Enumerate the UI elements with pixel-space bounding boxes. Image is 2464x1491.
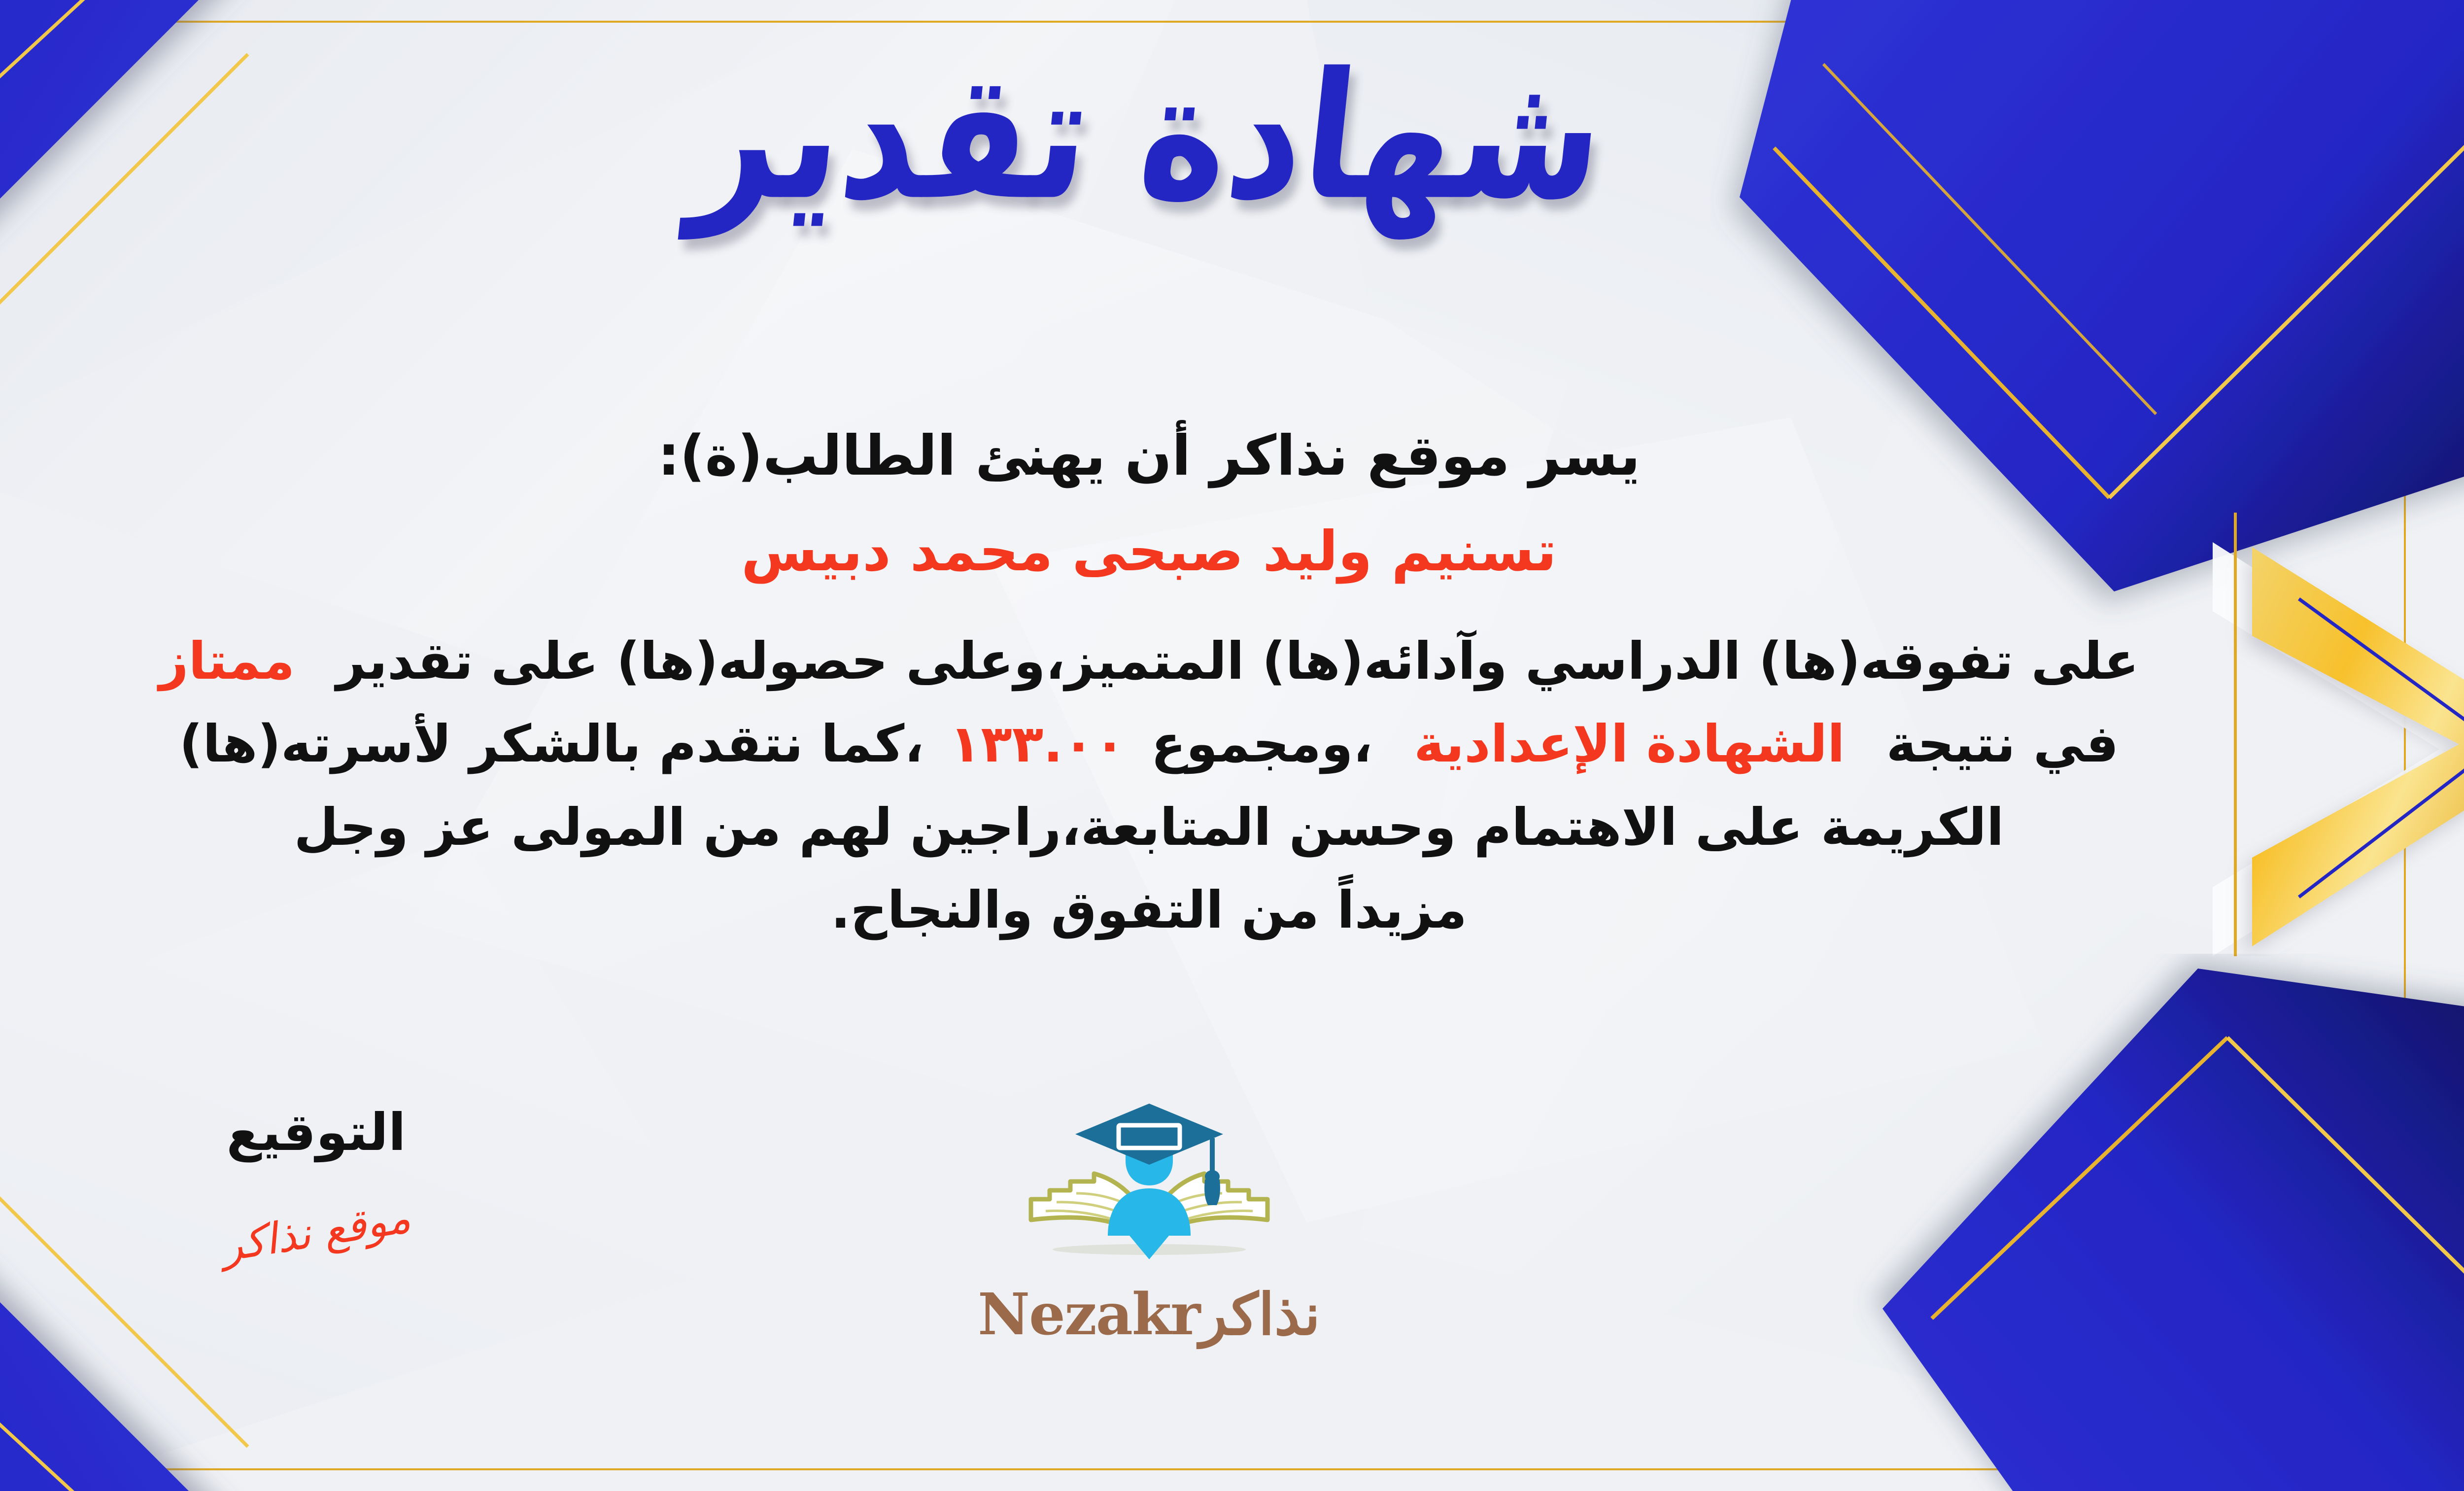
citation-line-3: الكريمة على الاهتمام وحسن المتابعة،راجين… <box>0 786 2395 868</box>
certificate-footer: التوقيع موقع نذاكر <box>0 1102 2464 1407</box>
certificate-title: شهادة تقدير <box>685 45 1612 229</box>
logo-mark <box>1011 1097 1287 1294</box>
intro-line: يسر موقع نذاكر أن يهنئ الطالب(ة): <box>0 419 2395 493</box>
grade-value: ممتاز <box>159 631 295 691</box>
citation-line-2-prefix: في نتيجة <box>1886 714 2119 774</box>
citation-line-1-text: على تفوقه(ها) الدراسي وآدائه(ها) المتميز… <box>336 631 2139 691</box>
citation-paragraph: على تفوقه(ها) الدراسي وآدائه(ها) المتميز… <box>0 620 2395 952</box>
citation-total-label: ،ومجموع <box>1151 714 1372 774</box>
citation-line-1: على تفوقه(ها) الدراسي وآدائه(ها) المتميز… <box>0 620 2395 702</box>
citation-line-2-suffix: ،كما نتقدم بالشكر لأسرته(ها) <box>179 714 924 774</box>
logo-wordmark: نذاكرNezakr <box>978 1281 1320 1348</box>
certificate-canvas: شهادة تقدير يسر موقع نذاكر أن يهنئ الطال… <box>0 0 2464 1491</box>
certificate-title-wrap: شهادة تقدير <box>0 59 2464 214</box>
exam-name: الشهادة الإعدادية <box>1414 714 1845 774</box>
citation-line-4: مزيداً من التفوق والنجاح. <box>0 868 2395 951</box>
logo-wordmark-latin: Nezakr <box>978 1281 1199 1348</box>
citation-line-2: في نتيجةالشهادة الإعدادية،ومجموع١٣٣.٠٠،ك… <box>0 702 2395 785</box>
total-score-value: ١٣٣.٠٠ <box>950 714 1126 774</box>
student-name: تسنيم وليد صبحى محمد دبيس <box>0 516 2395 588</box>
brand-logo: نذاكرNezakr <box>0 1097 2464 1348</box>
logo-wordmark-arabic: نذاكر <box>1199 1281 1320 1348</box>
certificate-body: يسر موقع نذاكر أن يهنئ الطالب(ة): تسنيم … <box>0 419 2395 952</box>
